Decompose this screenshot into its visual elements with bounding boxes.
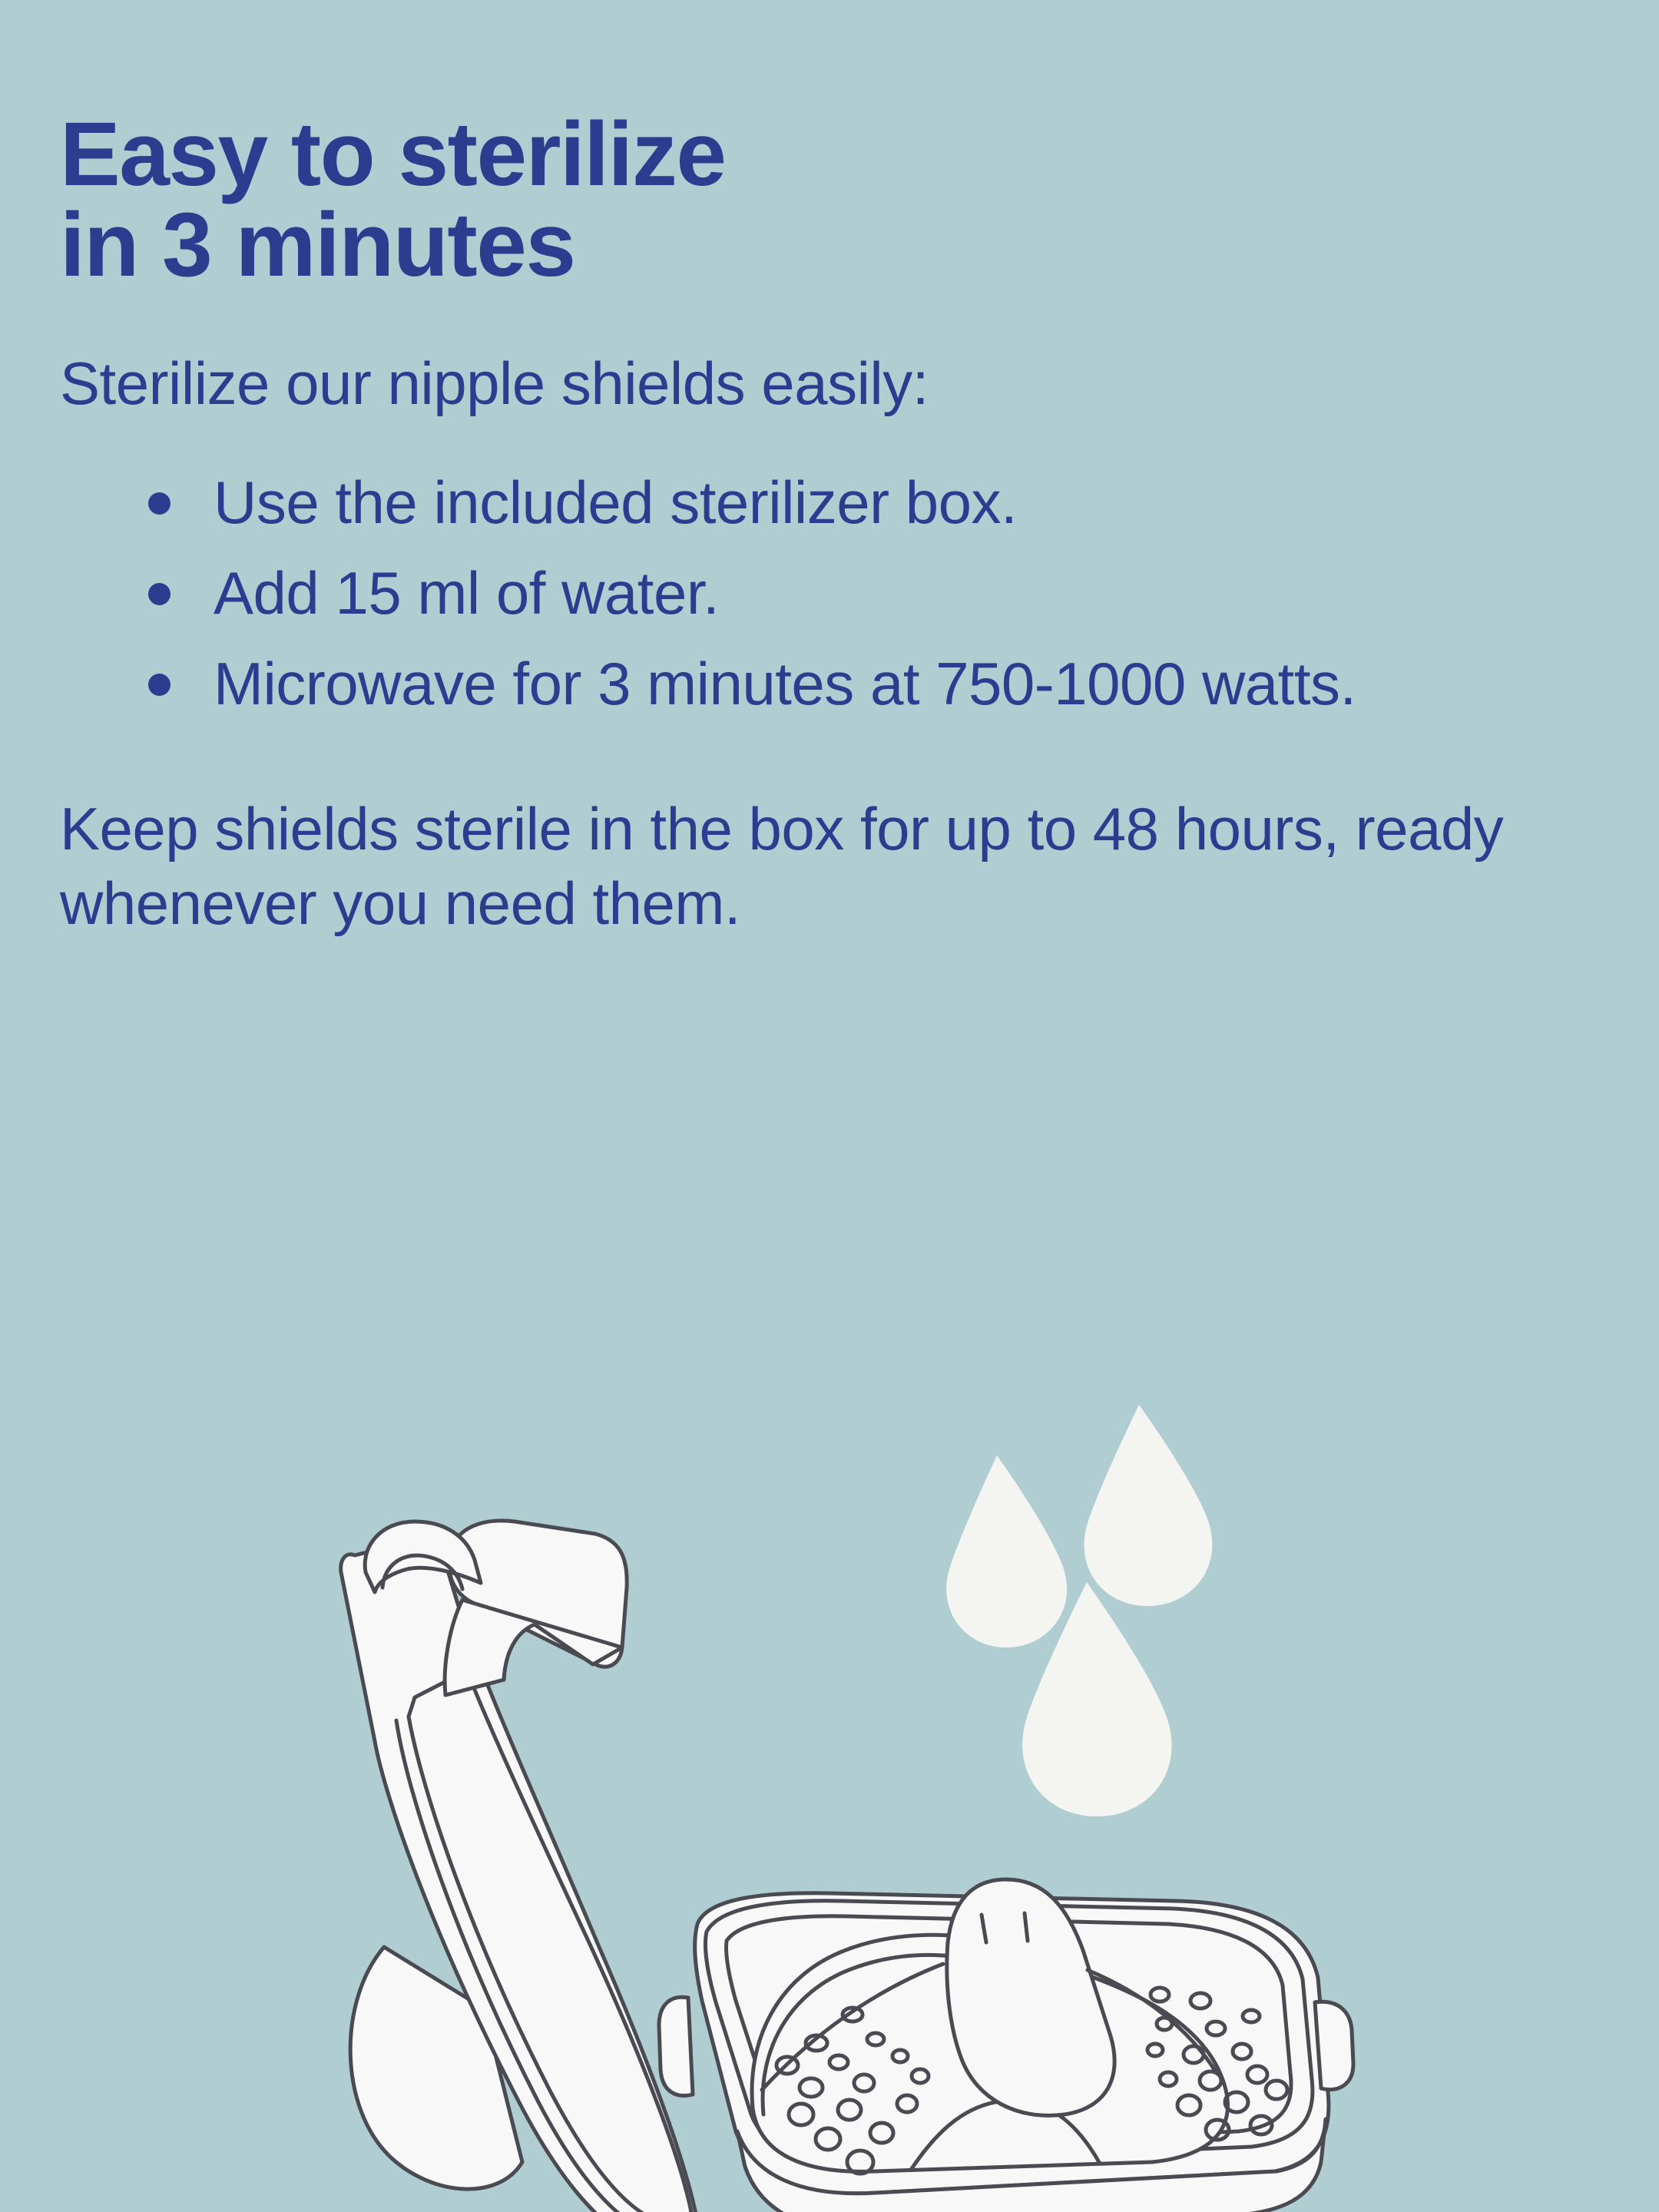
sterilizer-box-illustration — [292, 1394, 1459, 2212]
promo-card: Easy to sterilize in 3 minutes Sterilize… — [0, 0, 1659, 2212]
water-droplet-icon — [1084, 1405, 1212, 1606]
list-item-label: Add 15 ml of water. — [214, 559, 719, 627]
closing-paragraph: Keep shields sterile in the box for up t… — [60, 737, 1519, 942]
instruction-list: Use the included sterilizer box. Add 15 … — [60, 417, 1581, 722]
bullet-dot-icon — [148, 492, 171, 515]
list-item: Add 15 ml of water. — [60, 555, 1581, 632]
box-side-tab-right — [1315, 2002, 1353, 2089]
water-droplets — [946, 1405, 1212, 1816]
page-title: Easy to sterilize in 3 minutes — [60, 0, 1581, 290]
list-item: Use the included sterilizer box. — [60, 465, 1581, 541]
list-item: Microwave for 3 minutes at 750-1000 watt… — [60, 646, 1581, 723]
list-item-label: Microwave for 3 minutes at 750-1000 watt… — [214, 650, 1356, 717]
bullet-dot-icon — [148, 674, 171, 696]
box-side-tab-left — [659, 1997, 693, 2095]
text-content: Easy to sterilize in 3 minutes Sterilize… — [60, 0, 1581, 942]
lead-paragraph: Sterilize our nipple shields easily: — [60, 290, 1581, 417]
water-droplet-icon — [946, 1455, 1067, 1647]
bullet-dot-icon — [148, 583, 171, 605]
list-item-label: Use the included sterilizer box. — [214, 469, 1017, 536]
sterilizer-box-svg — [292, 1394, 1459, 2212]
